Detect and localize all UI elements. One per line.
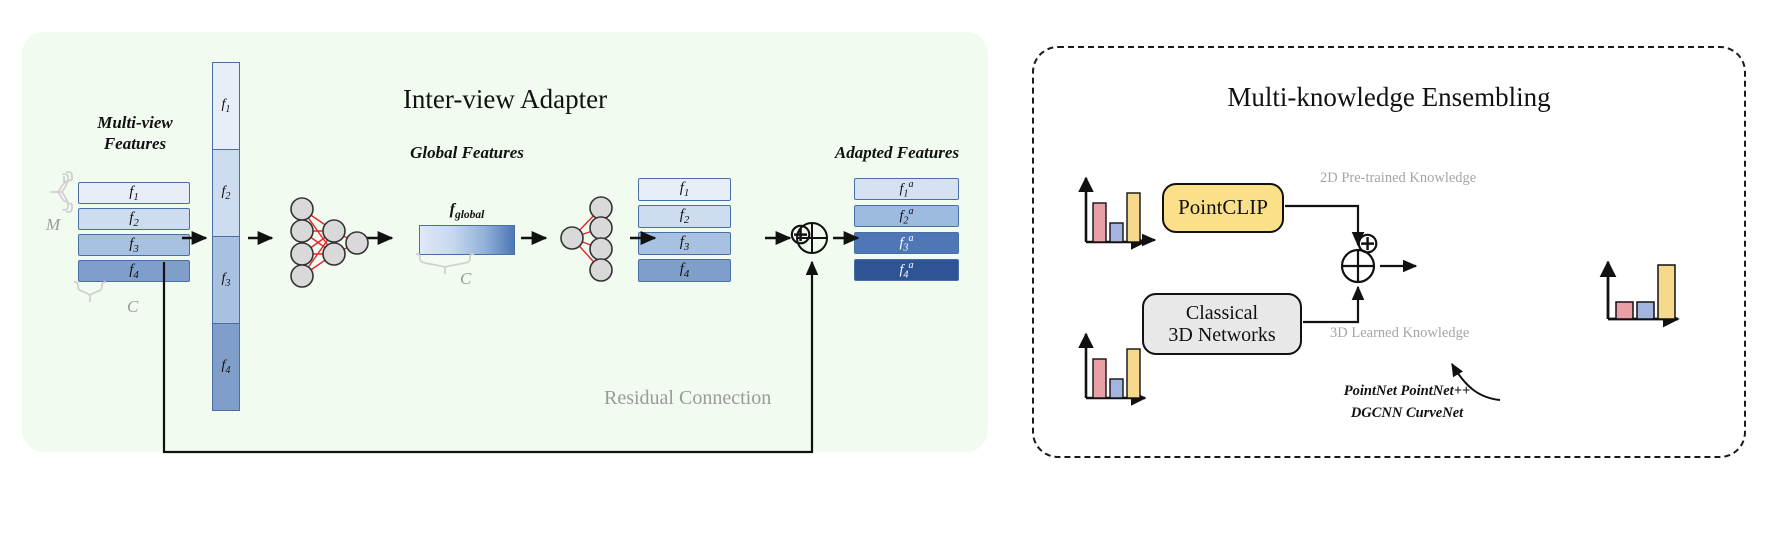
decoded-feature-item: f3 <box>638 232 731 255</box>
multiview-features-line1: Multi-view <box>50 112 220 133</box>
network-names-line2: DGCNN CurveNet <box>1292 402 1522 424</box>
multiview-features-line2: Features <box>50 133 220 154</box>
inter-view-adapter-panel: Inter-view Adapter Multi-view Features f… <box>22 32 988 452</box>
adapted-features-label: Adapted Features <box>802 142 992 163</box>
network-names: PointNet PointNet++ DGCNN CurveNet <box>1292 380 1522 425</box>
global-features-label: Global Features <box>377 142 557 163</box>
page-title: Inter-view Adapter <box>22 84 988 115</box>
knowledge-2d-label: 2D Pre-trained Knowledge <box>1320 170 1476 187</box>
ensemble-add-symbol: ⊕ <box>1355 229 1380 259</box>
adapted-feature-item: f3a <box>854 232 959 254</box>
concat-feature-segment: f2 <box>212 149 240 237</box>
concat-feature-segment: f4 <box>212 323 240 411</box>
pointclip-box[interactable]: PointCLIP <box>1162 183 1284 233</box>
multiview-feature-item: f1 <box>78 182 190 204</box>
decoded-feature-item: f1 <box>638 178 731 201</box>
decoded-feature-item: f4 <box>638 259 731 282</box>
dimension-label-m: M <box>46 215 60 235</box>
multiview-feature-item: f3 <box>78 234 190 256</box>
residual-connection-label: Residual Connection <box>604 387 771 410</box>
ensemble-title: Multi-knowledge Ensembling <box>1034 82 1744 113</box>
concat-feature-segment: f1 <box>212 62 240 150</box>
knowledge-3d-label: 3D Learned Knowledge <box>1330 325 1469 342</box>
decoded-feature-item: f2 <box>638 205 731 228</box>
adapted-feature-item: f1a <box>854 178 959 200</box>
concat-feature-segment: f3 <box>212 236 240 324</box>
classical-label-line1: Classical <box>1186 302 1258 324</box>
adapted-feature-item: f2a <box>854 205 959 227</box>
residual-add-symbol: ⊕ <box>788 220 813 250</box>
global-feature-name: fglobal <box>412 200 522 223</box>
multiview-feature-item: f2 <box>78 208 190 230</box>
classical-3d-networks-box[interactable]: Classical 3D Networks <box>1142 293 1302 355</box>
multiview-features-label: Multi-view Features <box>50 112 220 155</box>
global-feature-bar <box>419 225 515 255</box>
network-names-line1: PointNet PointNet++ <box>1292 380 1522 402</box>
multi-knowledge-ensembling-panel: Multi-knowledge Ensembling PointCLIP Cla… <box>1032 46 1746 458</box>
classical-label-line2: 3D Networks <box>1168 324 1275 346</box>
adapted-feature-item: f4a <box>854 259 959 281</box>
dimension-label-c-global: C <box>460 269 471 289</box>
dimension-label-c-left: C <box>127 297 138 317</box>
multiview-feature-item: f4 <box>78 260 190 282</box>
